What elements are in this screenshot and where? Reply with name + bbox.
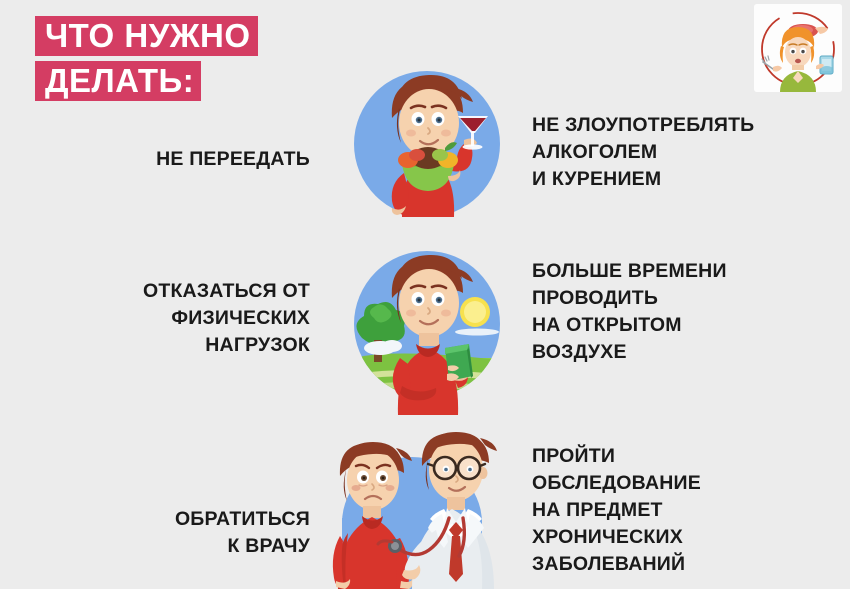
row-1-right-text: НЕ ЗЛОУПОТРЕБЛЯТЬ АЛКОГОЛЕМ И КУРЕНИЕМ <box>532 112 842 193</box>
infographic-poster: ЧТО НУЖНО ДЕЛАТЬ: <box>0 0 850 589</box>
row-2-right-line-1: БОЛЬШЕ ВРЕМЕНИ <box>532 258 842 285</box>
row-3-left-text: ОБРАТИТЬСЯ К ВРАЧУ <box>50 506 310 560</box>
row-2-right-line-3: НА ОТКРЫТОМ <box>532 312 842 339</box>
man-with-salad-and-wine-illustration <box>340 60 515 235</box>
row-2-left-line-3: НАГРУЗОК <box>50 332 310 359</box>
row-3-right-line-1: ПРОЙТИ <box>532 443 842 470</box>
row-1-right-line-2: АЛКОГОЛЕМ <box>532 139 842 166</box>
row-1-right-line-3: И КУРЕНИЕМ <box>532 166 842 193</box>
row-2-right-line-2: ПРОВОДИТЬ <box>532 285 842 312</box>
man-outdoors-with-cup-illustration <box>340 240 515 415</box>
row-3-right-line-2: ОБСЛЕДОВАНИЕ <box>532 470 842 497</box>
row-1-right-line-1: НЕ ЗЛОУПОТРЕБЛЯТЬ <box>532 112 842 139</box>
row-2-left-line-2: ФИЗИЧЕСКИХ <box>50 305 310 332</box>
row-2-right-line-4: ВОЗДУХЕ <box>532 339 842 366</box>
row-2-left-text: ОТКАЗАТЬСЯ ОТ ФИЗИЧЕСКИХ НАГРУЗОК <box>50 278 310 359</box>
advice-row-2: ОТКАЗАТЬСЯ ОТ ФИЗИЧЕСКИХ НАГРУЗОК <box>0 240 850 415</box>
row-3-right-line-3: НА ПРЕДМЕТ <box>532 497 842 524</box>
doctor-examining-patient-illustration <box>300 418 535 589</box>
row-3-right-line-4: ХРОНИЧЕСКИХ <box>532 524 842 551</box>
row-1-left-line-1: НЕ ПЕРЕЕДАТЬ <box>50 146 310 173</box>
row-2-right-text: БОЛЬШЕ ВРЕМЕНИ ПРОВОДИТЬ НА ОТКРЫТОМ ВОЗ… <box>532 258 842 366</box>
title-line-1: ЧТО НУЖНО <box>35 16 258 56</box>
row-3-right-line-5: ЗАБОЛЕВАНИЙ <box>532 551 842 578</box>
poster-title: ЧТО НУЖНО ДЕЛАТЬ: <box>35 16 335 101</box>
row-3-left-line-2: К ВРАЧУ <box>50 533 310 560</box>
row-1-left-text: НЕ ПЕРЕЕДАТЬ <box>50 146 310 173</box>
row-2-left-line-1: ОТКАЗАТЬСЯ ОТ <box>50 278 310 305</box>
title-line-2: ДЕЛАТЬ: <box>35 61 201 101</box>
woman-with-headache-logo <box>754 4 842 92</box>
row-3-left-line-1: ОБРАТИТЬСЯ <box>50 506 310 533</box>
row-3-right-text: ПРОЙТИ ОБСЛЕДОВАНИЕ НА ПРЕДМЕТ ХРОНИЧЕСК… <box>532 443 842 578</box>
advice-row-3: ОБРАТИТЬСЯ К ВРАЧУ <box>0 418 850 589</box>
